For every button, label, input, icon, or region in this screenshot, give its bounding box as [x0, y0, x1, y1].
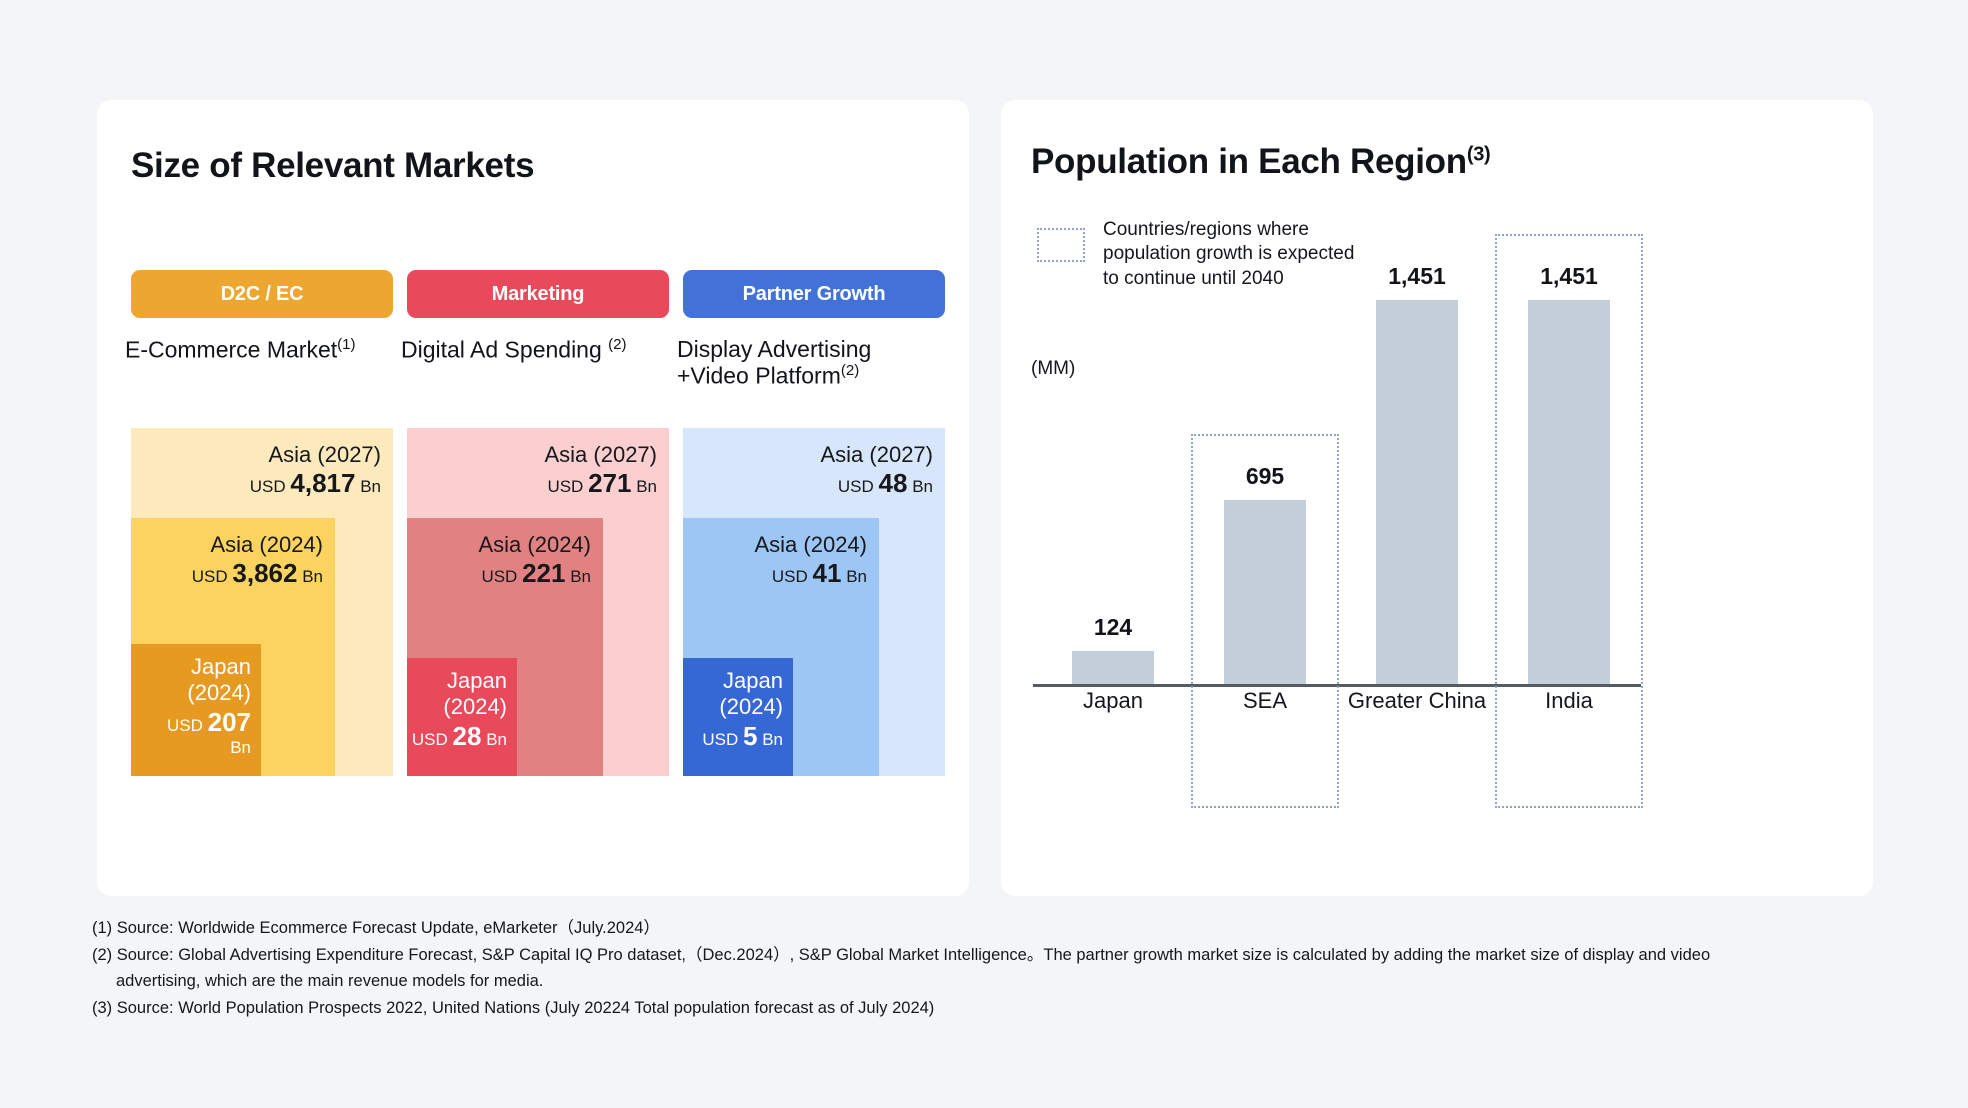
box-value: USD 207: [167, 707, 251, 738]
box-region: Asia (2024): [478, 532, 591, 558]
box-region: Japan: [702, 668, 783, 694]
left-title-text: Size of Relevant Markets: [131, 146, 534, 185]
column-label-digital-ad-spending: Digital Ad Spending (2): [401, 336, 681, 363]
market-box-label: Asia (2024) USD 41 Bn: [754, 532, 867, 590]
footnote-ref: (1): [337, 336, 355, 353]
population-title: Population in Each Region(3): [1031, 142, 1490, 182]
footnote-3: (3) Source: World Population Prospects 2…: [92, 995, 1892, 1022]
column-label-text: Digital Ad Spending: [401, 337, 602, 363]
bar-value-label: 695: [1189, 463, 1341, 490]
box-amount: 28: [453, 721, 482, 751]
footnote-1: (1) Source: Worldwide Ecommerce Forecast…: [92, 915, 1892, 942]
box-unit: Bn: [762, 730, 783, 749]
page-title: Size of Relevant Markets: [131, 146, 534, 186]
footnote-ref: (2): [608, 336, 626, 353]
box-region-year: (2024): [167, 680, 251, 706]
box-region: Asia (2024): [754, 532, 867, 558]
column-label-display-video: Display Advertising+Video Platform(2): [677, 336, 927, 390]
footnote-2: (2) Source: Global Advertising Expenditu…: [92, 942, 1892, 969]
box-region-year: (2024): [702, 694, 783, 720]
box-currency: USD: [702, 730, 738, 749]
bar[interactable]: [1528, 300, 1610, 684]
box-value: USD 3,862 Bn: [192, 558, 323, 589]
box-unit: Bn: [167, 738, 251, 758]
pill-label: D2C / EC: [221, 283, 304, 306]
market-column-marketing: Marketing Digital Ad Spending (2) Asia (…: [407, 270, 669, 870]
category-pill-marketing[interactable]: Marketing: [407, 270, 669, 318]
box-amount: 4,817: [290, 468, 355, 498]
bar[interactable]: [1376, 300, 1458, 684]
box-unit: Bn: [912, 477, 933, 496]
market-box-japan-2024: Japan (2024) USD 5 Bn: [683, 658, 793, 776]
box-unit: Bn: [570, 567, 591, 586]
box-region: Asia (2027): [544, 442, 657, 468]
box-value: USD 271 Bn: [544, 468, 657, 499]
box-unit: Bn: [636, 477, 657, 496]
box-amount: 207: [208, 707, 251, 737]
footnote-ref: (2): [841, 362, 859, 379]
box-amount: 221: [522, 558, 565, 588]
box-region: Asia (2027): [820, 442, 933, 468]
box-currency: USD: [481, 567, 517, 586]
box-currency: USD: [547, 477, 583, 496]
market-box-label: Japan (2024) USD 28 Bn: [412, 668, 507, 752]
nested-market-boxes: Asia (2027) USD 271 Bn Asia (2024) USD 2…: [407, 428, 669, 776]
box-region: Asia (2027): [250, 442, 381, 468]
pill-label: Partner Growth: [743, 283, 886, 306]
box-currency: USD: [192, 567, 228, 586]
box-value: USD 221 Bn: [478, 558, 591, 589]
box-amount: 271: [588, 468, 631, 498]
box-amount: 5: [743, 721, 757, 751]
box-currency: USD: [838, 477, 874, 496]
box-currency: USD: [250, 477, 286, 496]
box-unit: Bn: [360, 477, 381, 496]
footnote-2-cont: advertising, which are the main revenue …: [92, 968, 1892, 995]
population-bar-chart: 124Japan695SEA1,451Greater China1,451Ind…: [1033, 230, 1641, 760]
box-region-year: (2024): [412, 694, 507, 720]
box-value: USD 28 Bn: [412, 721, 507, 752]
bar-group-sea[interactable]: 695SEA: [1189, 234, 1341, 684]
market-box-label: Japan (2024) USD 207 Bn: [167, 654, 251, 758]
bar-category-label: India: [1493, 688, 1645, 714]
market-size-card: Size of Relevant Markets D2C / EC E-Comm…: [97, 100, 969, 896]
market-column-d2c-ec: D2C / EC E-Commerce Market(1) Asia (2027…: [131, 270, 393, 870]
footnote-ref: (3): [1467, 143, 1491, 165]
box-region: Asia (2024): [192, 532, 323, 558]
market-box-label: Asia (2027) USD 271 Bn: [544, 442, 657, 500]
x-axis-line: [1033, 684, 1641, 687]
bar[interactable]: [1224, 500, 1306, 684]
bar-category-label: Japan: [1037, 688, 1189, 714]
footnotes: (1) Source: Worldwide Ecommerce Forecast…: [92, 915, 1892, 1022]
nested-market-boxes: Asia (2027) USD 4,817 Bn Asia (2024) USD…: [131, 428, 393, 776]
market-column-partner-growth: Partner Growth Display Advertising+Video…: [683, 270, 945, 870]
market-box-label: Asia (2027) USD 48 Bn: [820, 442, 933, 500]
box-value: USD 41 Bn: [754, 558, 867, 589]
market-columns: D2C / EC E-Commerce Market(1) Asia (2027…: [105, 270, 965, 870]
bar-group-japan[interactable]: 124Japan: [1037, 234, 1189, 684]
box-amount: 3,862: [232, 558, 297, 588]
box-region: Japan: [167, 654, 251, 680]
market-box-japan-2024: Japan (2024) USD 28 Bn: [407, 658, 517, 776]
column-label-text: E-Commerce Market: [125, 337, 337, 363]
box-region: Japan: [412, 668, 507, 694]
slide-canvas: Size of Relevant Markets D2C / EC E-Comm…: [0, 0, 1968, 1108]
market-box-label: Asia (2024) USD 221 Bn: [478, 532, 591, 590]
market-box-label: Asia (2027) USD 4,817 Bn: [250, 442, 381, 500]
bar-value-label: 124: [1037, 614, 1189, 641]
bar-group-greater-china[interactable]: 1,451Greater China: [1341, 234, 1493, 684]
bar[interactable]: [1072, 651, 1154, 684]
box-unit: Bn: [486, 730, 507, 749]
category-pill-partner-growth[interactable]: Partner Growth: [683, 270, 945, 318]
right-title-text: Population in Each Region: [1031, 142, 1467, 181]
box-amount: 48: [879, 468, 908, 498]
bar-category-label: Greater China: [1341, 688, 1493, 714]
box-unit: Bn: [846, 567, 867, 586]
market-box-japan-2024: Japan (2024) USD 207 Bn: [131, 644, 261, 776]
bar-value-label: 1,451: [1341, 263, 1493, 290]
nested-market-boxes: Asia (2027) USD 48 Bn Asia (2024) USD 41…: [683, 428, 945, 776]
box-value: USD 48 Bn: [820, 468, 933, 499]
box-currency: USD: [167, 716, 203, 735]
market-box-label: Asia (2024) USD 3,862 Bn: [192, 532, 323, 590]
box-unit: Bn: [302, 567, 323, 586]
category-pill-d2c-ec[interactable]: D2C / EC: [131, 270, 393, 318]
bar-value-label: 1,451: [1493, 263, 1645, 290]
market-box-label: Japan (2024) USD 5 Bn: [702, 668, 783, 752]
box-currency: USD: [412, 730, 448, 749]
box-value: USD 5 Bn: [702, 721, 783, 752]
box-amount: 41: [813, 558, 842, 588]
box-currency: USD: [772, 567, 808, 586]
population-card: Population in Each Region(3) Countries/r…: [1001, 100, 1873, 896]
column-label-ecommerce: E-Commerce Market(1): [125, 336, 405, 363]
bar-category-label: SEA: [1189, 688, 1341, 714]
box-value: USD 4,817 Bn: [250, 468, 381, 499]
bar-group-india[interactable]: 1,451India: [1493, 234, 1645, 684]
pill-label: Marketing: [492, 283, 585, 306]
